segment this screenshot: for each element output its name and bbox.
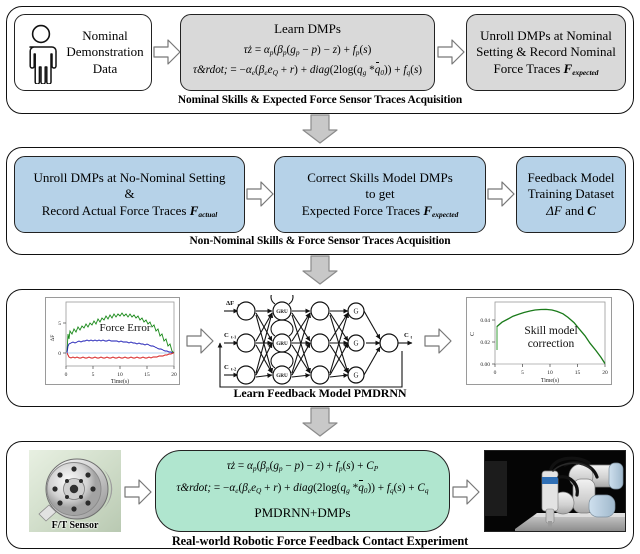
unroll-line-1: Unroll DMPs at Nominal <box>480 28 612 45</box>
svg-text:5: 5 <box>92 372 95 378</box>
figure-root: Nominal Demonstration Data Learn DMPs τż… <box>0 0 640 554</box>
arrow-section3-to-section4 <box>302 407 338 442</box>
experiment-equation-2: τ&rdot; = −αe(βeeQ + r) + diag(2log(qg *… <box>176 483 428 495</box>
learn-dmps-heading: Learn DMPs <box>274 21 341 38</box>
svg-text:ΔF: ΔF <box>50 335 56 342</box>
svg-text:C: C <box>224 364 229 371</box>
dataset-line-3: ΔF and C <box>546 203 596 220</box>
correct-line-2: to get <box>365 186 394 203</box>
svg-text:C: C <box>404 332 409 339</box>
svg-text:C: C <box>470 332 476 336</box>
ft-sensor-caption: F/T Sensor <box>29 520 121 531</box>
svg-text:Time(s): Time(s) <box>111 378 129 384</box>
svg-text:G: G <box>353 308 358 316</box>
box-learn-dmps[interactable]: Learn DMPs τż = αp(βp(gp − p) − z) + fp(… <box>180 14 435 91</box>
svg-text:Time(s): Time(s) <box>541 377 559 384</box>
unroll-line-3: Force Traces Fexpected <box>494 61 599 78</box>
svg-text:15: 15 <box>144 372 150 378</box>
svg-text:0.04: 0.04 <box>480 318 490 324</box>
skill-correction-chart-title: Skill model correction <box>503 325 599 351</box>
demo-line-3: Data <box>66 61 143 78</box>
svg-text:t-2: t-2 <box>231 367 237 372</box>
box-pmdrnn-dmps-model[interactable]: τż = αp(βp(gp − p) − z) + fp(s) + CP τ&r… <box>155 450 450 532</box>
box-unroll-nominal[interactable]: Unroll DMPs at Nominal Setting & Record … <box>466 14 626 91</box>
svg-text:0.02: 0.02 <box>480 340 490 346</box>
force-error-chart: 0 5 10 15 20 5 0 ΔF Time(s) Force Error <box>45 297 180 385</box>
box-nominal-demonstration-data[interactable]: Nominal Demonstration Data <box>14 14 152 91</box>
arrow-sensor-to-model <box>124 478 152 506</box>
pmdrnn-dmps-label: PMDRNN+DMPs <box>254 505 350 522</box>
correct-line-1: Correct Skills Model DMPs <box>307 170 453 187</box>
dataset-line-1: Feedback Model <box>527 170 614 187</box>
svg-text:G: G <box>353 340 358 348</box>
svg-text:C: C <box>224 332 229 339</box>
svg-text:t: t <box>411 335 413 340</box>
svg-text:0: 0 <box>58 351 61 357</box>
experiment-equation-1: τż = αp(βp(gp − p) − z) + fp(s) + CP <box>227 461 379 473</box>
unroll-actual-line-1: Unroll DMPs at No-Nominal Setting <box>33 170 225 187</box>
svg-text:5: 5 <box>521 370 524 376</box>
skill-model-correction-chart: 0 5 10 15 20 0.00 0.02 0.04 C Time(s) Sk… <box>466 297 612 385</box>
arrow-model-to-robot <box>452 478 480 506</box>
arrow-chart-to-network <box>186 327 214 355</box>
force-error-chart-title: Force Error <box>80 322 170 335</box>
svg-text:10: 10 <box>117 372 123 378</box>
box-correct-skills-model[interactable]: Correct Skills Model DMPs to get Expecte… <box>274 156 486 233</box>
arrow-section1-to-section2 <box>302 114 338 149</box>
section-pmdrnn-title: Learn Feedback Model PMDRNN <box>0 386 640 401</box>
section-nominal-title: Nominal Skills & Expected Force Sensor T… <box>0 94 640 106</box>
svg-text:t-1: t-1 <box>231 335 237 340</box>
box-unroll-non-nominal[interactable]: Unroll DMPs at No-Nominal Setting & Reco… <box>14 156 245 233</box>
dataset-line-2: Training Dataset <box>528 186 615 203</box>
svg-text:0: 0 <box>494 370 497 376</box>
svg-text:0: 0 <box>65 372 68 378</box>
learn-dmps-equation-2: τ&rdot; = −αe(βeeQ + r) + diag(2log(qg *… <box>193 65 422 77</box>
svg-text:5: 5 <box>58 321 61 327</box>
svg-text:GRU: GRU <box>276 373 288 379</box>
demo-line-2: Demonstration <box>66 44 143 61</box>
svg-text:15: 15 <box>575 370 581 376</box>
learn-dmps-equation-1: τż = αp(βp(gp − p) − z) + fp(s) <box>244 45 372 57</box>
svg-text:20: 20 <box>602 370 608 376</box>
arrow-network-to-correction-chart <box>424 327 452 355</box>
arrow-correct-to-dataset <box>487 180 515 208</box>
section-non-nominal-title: Non-Nominal Skills & Force Sensor Traces… <box>0 235 640 247</box>
unroll-actual-line-2: & <box>124 186 134 203</box>
section-experiment-title: Real-world Robotic Force Feedback Contac… <box>0 534 640 549</box>
arrow-demo-to-learn <box>153 38 181 66</box>
demo-line-1: Nominal <box>66 28 143 45</box>
unroll-actual-line-3: Record Actual Force Traces Factual <box>42 203 218 220</box>
arrow-learn-to-unroll <box>437 38 465 66</box>
svg-text:20: 20 <box>171 372 177 378</box>
svg-text:ΔF: ΔF <box>226 300 234 307</box>
robot-experiment-photo <box>484 450 626 532</box>
ft-sensor-photo: F/T Sensor <box>29 450 121 532</box>
person-icon <box>23 24 59 89</box>
box-feedback-training-dataset[interactable]: Feedback Model Training Dataset ΔF and C <box>516 156 626 233</box>
svg-text:0.00: 0.00 <box>480 362 490 368</box>
pmdrnn-network: GRUGRUGRU GGG ΔFt Ct-1 Ct-2 Ct <box>214 295 420 396</box>
svg-text:10: 10 <box>547 370 553 376</box>
correct-line-3: Expected Force Traces Fexpected <box>302 203 459 220</box>
unroll-line-2: Setting & Record Nominal <box>476 44 616 61</box>
arrow-section2-to-section3 <box>302 255 338 290</box>
svg-text:GRU: GRU <box>276 341 288 347</box>
svg-text:G: G <box>353 372 358 380</box>
arrow-unroll-to-correct <box>246 180 274 208</box>
svg-text:GRU: GRU <box>276 309 288 315</box>
force-error-plot: 0 5 10 15 20 5 0 ΔF Time(s) <box>46 298 179 384</box>
